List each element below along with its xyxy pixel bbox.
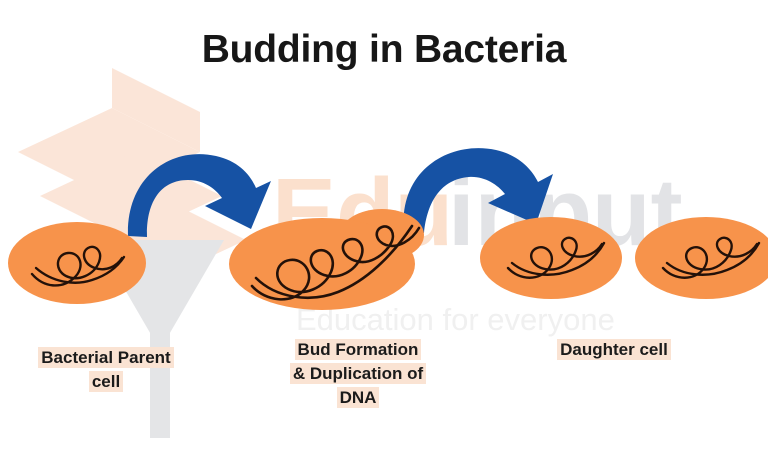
page-title: Budding in Bacteria — [0, 28, 768, 72]
title-layer: Budding in Bacteria — [0, 0, 768, 473]
diagram-canvas: Edu input Education for everyone — [0, 0, 768, 473]
